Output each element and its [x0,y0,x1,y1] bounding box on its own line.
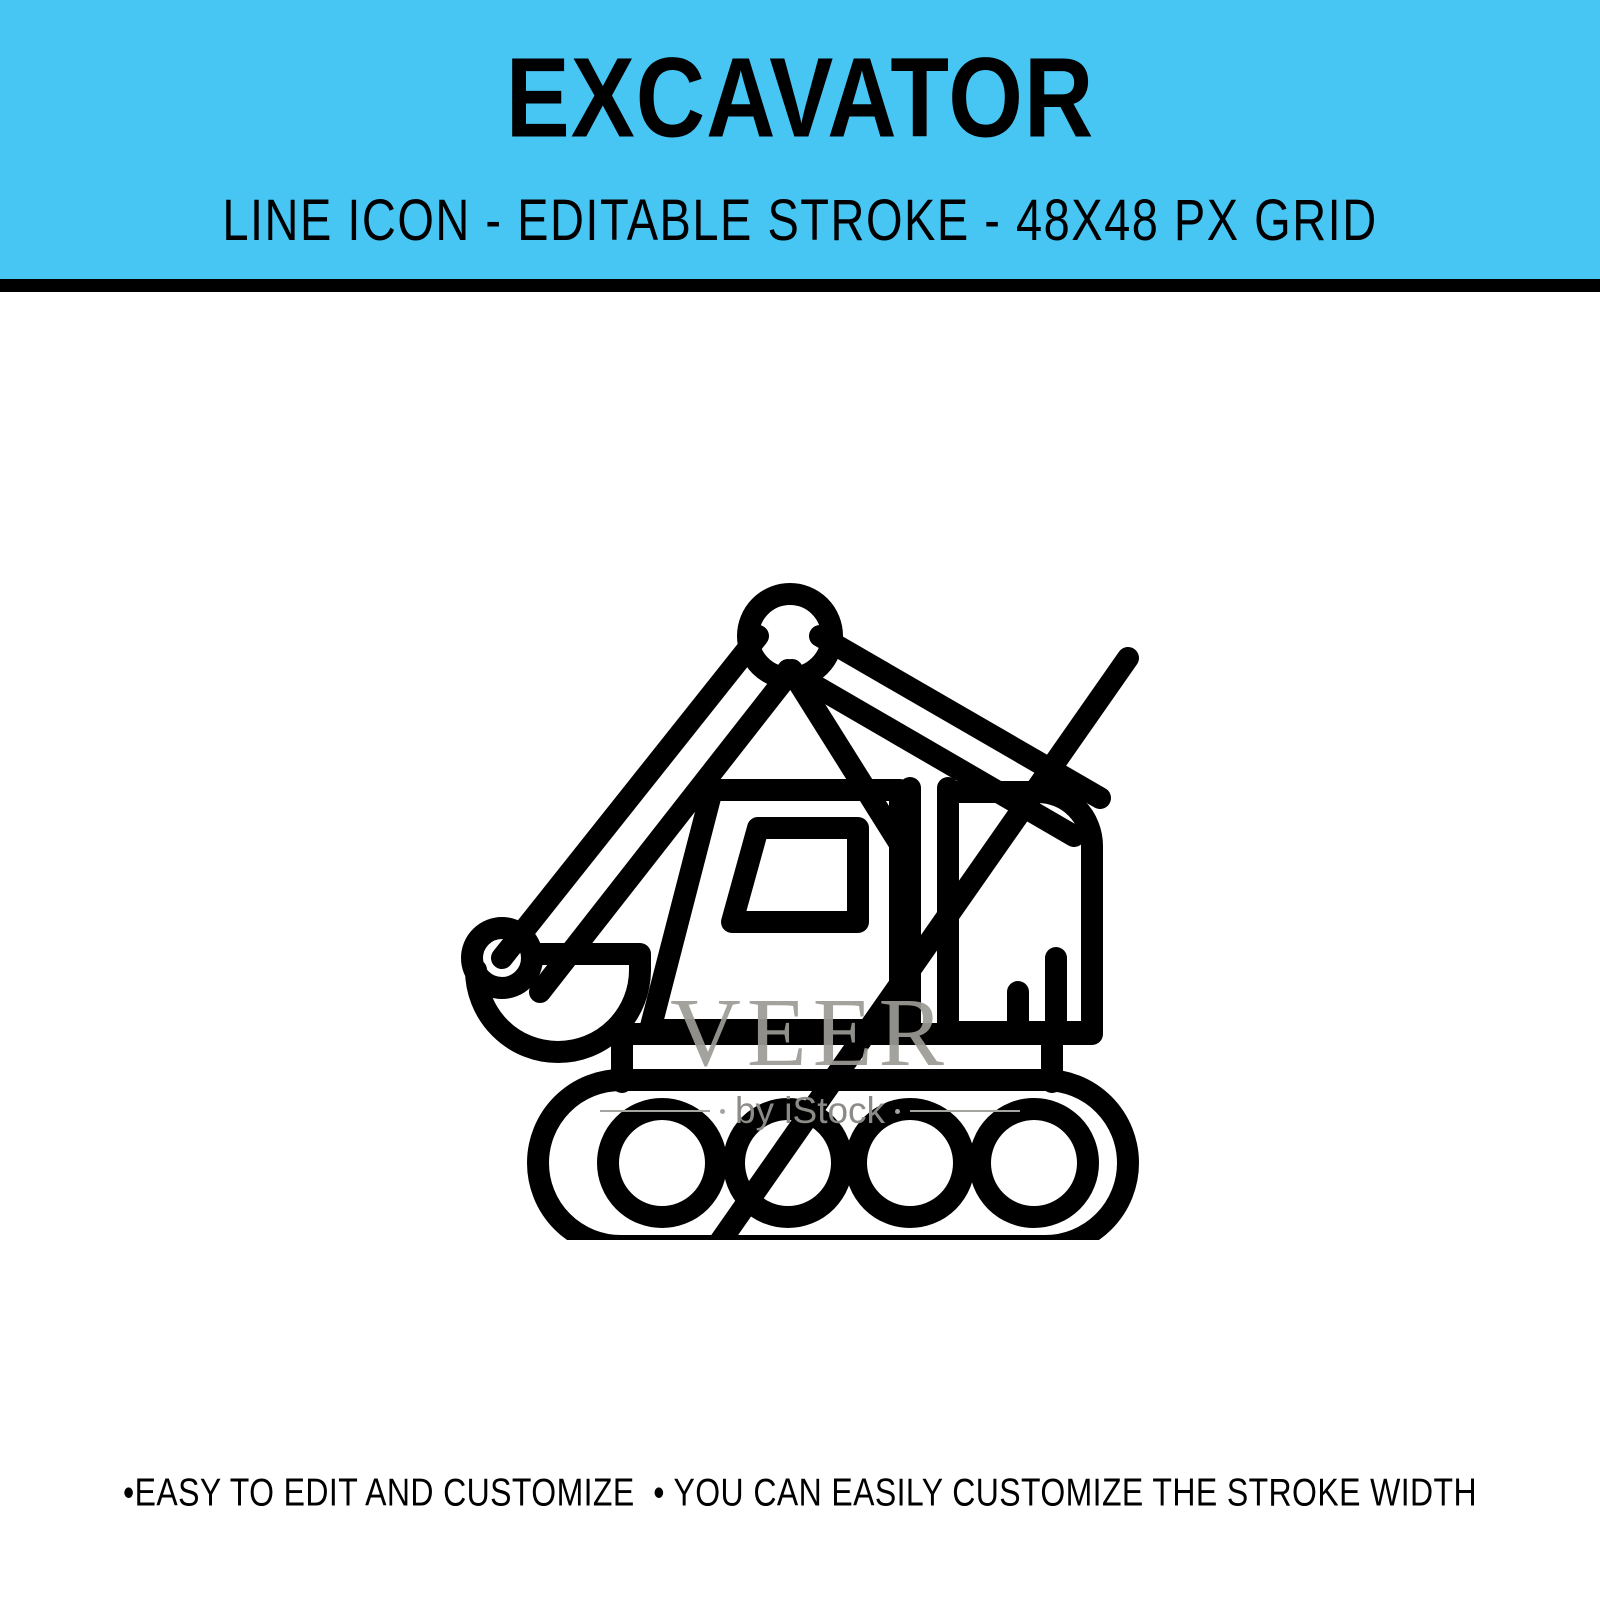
header-band: EXCAVATOR LINE ICON - EDITABLE STROKE - … [0,0,1600,279]
footer: •EASY TO EDIT AND CUSTOMIZE • YOU CAN EA… [0,1470,1600,1507]
wheel-1 [608,1109,716,1217]
excavator-icon [440,540,1140,1240]
page-root: EXCAVATOR LINE ICON - EDITABLE STROKE - … [0,0,1600,1600]
header-divider-rule [0,279,1600,292]
icon-stage: VEER by iStock [0,292,1600,1442]
footer-note: •EASY TO EDIT AND CUSTOMIZE • YOU CAN EA… [123,1470,1477,1515]
wheel-3 [856,1109,964,1217]
page-title: EXCAVATOR [506,42,1095,155]
wheel-4 [980,1109,1088,1217]
header-subtitle: LINE ICON - EDITABLE STROKE - 48X48 PX G… [222,190,1377,249]
cab-window [732,828,858,922]
